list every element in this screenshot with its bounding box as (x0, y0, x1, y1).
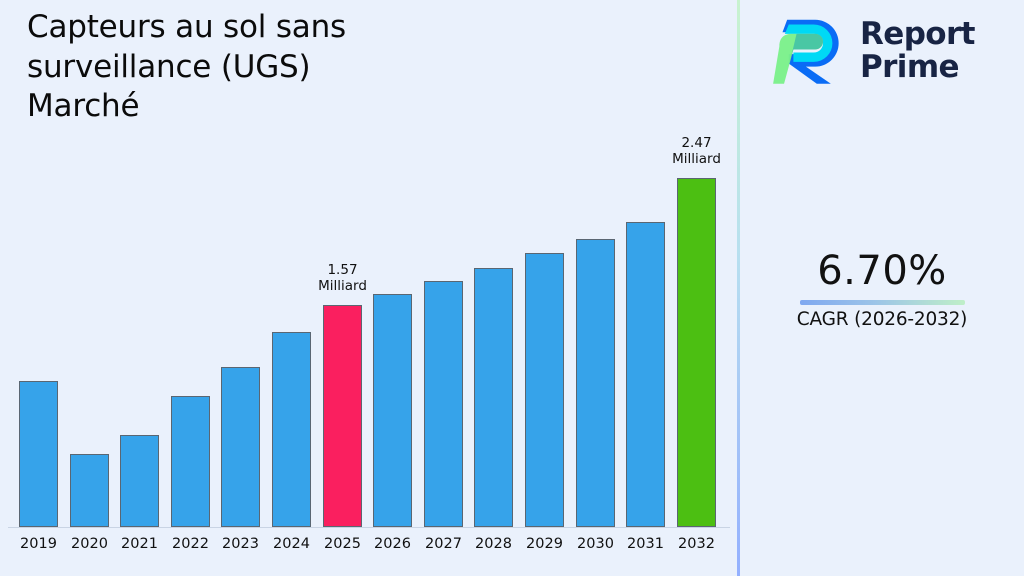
bar-value-label-2025: 1.57 Milliard (293, 263, 393, 294)
x-axis-line (8, 527, 730, 528)
bar-2031[interactable] (626, 222, 665, 527)
cagr-value: 6.70% (740, 250, 1024, 292)
bar-2026[interactable] (373, 294, 412, 527)
chart-panel: Capteurs au sol sans surveillance (UGS) … (0, 0, 738, 576)
bar-2024[interactable] (272, 332, 311, 527)
bar-2032[interactable] (677, 178, 716, 527)
cagr-caption: CAGR (2026-2032) (740, 309, 1024, 330)
bar-2022[interactable] (171, 396, 210, 527)
bar-2021[interactable] (120, 435, 159, 527)
bar-2027[interactable] (424, 281, 463, 527)
bar-2030[interactable] (576, 239, 615, 527)
bar-2020[interactable] (70, 454, 109, 527)
bar-value-label-2032: 2.47 Milliard (647, 136, 747, 167)
chart-screenshot: Capteurs au sol sans surveillance (UGS) … (0, 0, 1024, 576)
bar-2029[interactable] (525, 253, 564, 527)
brand-name: Report Prime (860, 18, 975, 84)
brand-logo[interactable]: Report Prime (770, 12, 975, 90)
bar-2023[interactable] (221, 367, 260, 527)
report-prime-logo-icon (770, 12, 848, 90)
cagr-block: 6.70% CAGR (2026-2032) (740, 250, 1024, 330)
brand-panel: Report Prime 6.70% CAGR (2026-2032) (740, 0, 1024, 576)
bar-2028[interactable] (474, 268, 513, 527)
bar-2025[interactable] (323, 305, 362, 527)
bar-2019[interactable] (19, 381, 58, 527)
bar-chart-plot: 2019202020212022202320241.57 Milliard202… (0, 0, 738, 576)
x-axis-tick-2032: 2032 (667, 536, 727, 552)
cagr-divider-rule (800, 300, 965, 305)
